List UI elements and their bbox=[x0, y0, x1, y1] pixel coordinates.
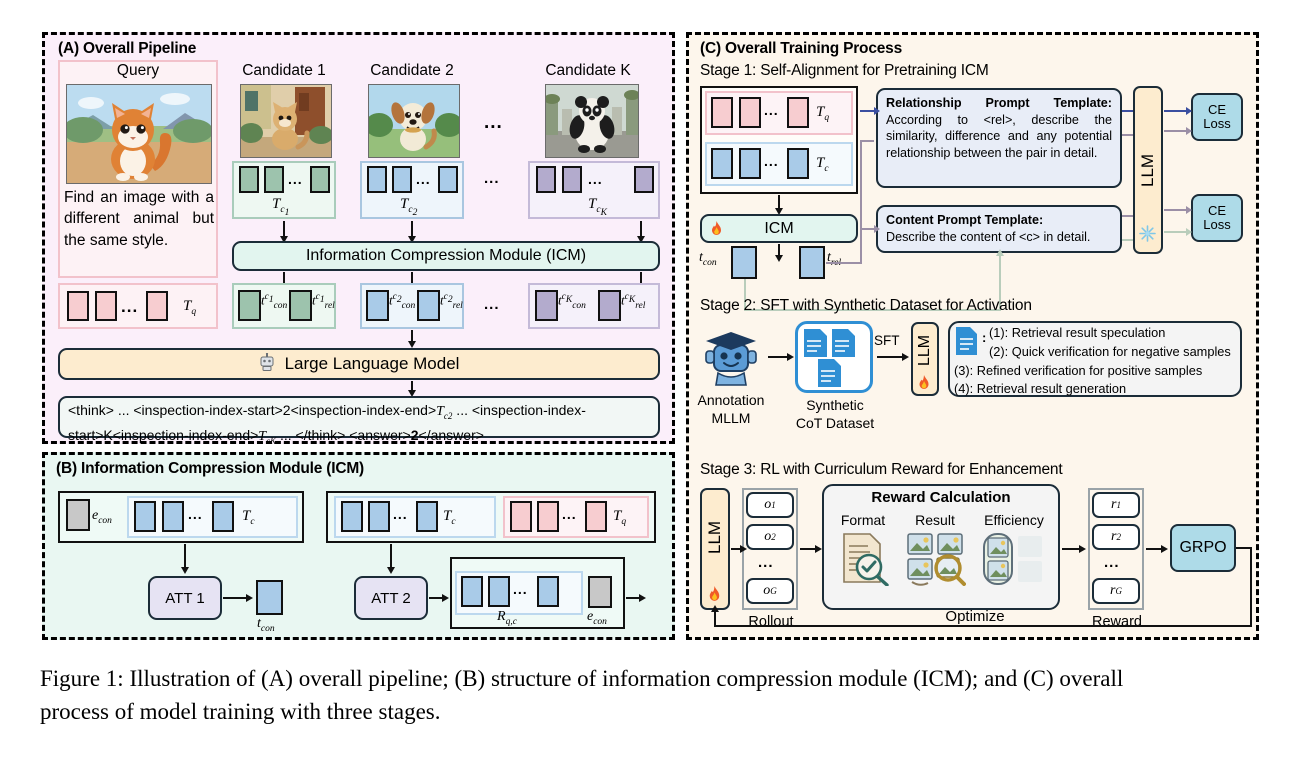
relationship-prompt-title: Relationship Prompt Template: bbox=[886, 96, 1112, 110]
arrow-head bbox=[815, 545, 822, 553]
content-prompt-box: Content Prompt Template: Describe the co… bbox=[876, 205, 1122, 253]
tq-token bbox=[787, 97, 809, 128]
annotation-mllm-icon bbox=[700, 325, 762, 389]
tq-token bbox=[510, 501, 532, 532]
query-token bbox=[67, 291, 89, 321]
query-token-label: Tq bbox=[183, 298, 196, 317]
arrow-head bbox=[874, 225, 880, 233]
candidate-2-trel bbox=[417, 290, 440, 321]
sft-label: SFT bbox=[874, 333, 900, 348]
documents-icon bbox=[802, 327, 868, 394]
ce-loss-box-2: CE Loss bbox=[1191, 194, 1243, 242]
arrow-head bbox=[442, 594, 449, 602]
stage1-tc-label: Tc bbox=[816, 155, 829, 174]
flame-icon bbox=[710, 221, 723, 243]
arrow bbox=[223, 597, 247, 599]
stage2-title: Stage 2: SFT with Synthetic Dataset for … bbox=[700, 297, 1032, 315]
connector bbox=[1122, 215, 1133, 217]
stage2-item-4: (4): Retrieval result generation bbox=[954, 381, 1126, 396]
connector bbox=[860, 140, 874, 142]
output-line2-c: ... </think> <answer> bbox=[276, 427, 411, 443]
llm-bar: Large Language Model bbox=[58, 348, 660, 380]
tq-token bbox=[537, 501, 559, 532]
e-con-label: econ bbox=[92, 508, 112, 526]
stage1-icm-box: ICM bbox=[700, 214, 858, 243]
arrow-head bbox=[1186, 107, 1192, 115]
arrow-head bbox=[787, 353, 794, 361]
image-filter-icon bbox=[982, 532, 1044, 591]
arrow bbox=[184, 544, 186, 568]
tq-token bbox=[739, 97, 761, 128]
ellipsis: ... bbox=[393, 506, 408, 522]
ellipsis: ... bbox=[416, 171, 431, 187]
candidate-2-token bbox=[367, 166, 387, 193]
arrow bbox=[877, 356, 903, 358]
reward-calculation-title: Reward Calculation bbox=[822, 489, 1060, 506]
connector bbox=[714, 612, 716, 626]
output-line2-d: </answer> bbox=[419, 427, 484, 443]
stage3-llm-label: LLM bbox=[700, 482, 730, 592]
annotation-label-1: Annotation bbox=[688, 392, 774, 408]
stage2-item-2: (2): Quick verification for negative sam… bbox=[989, 344, 1231, 359]
panel-c-title: (C) Overall Training Process bbox=[700, 40, 902, 58]
t-con-output-label: tcon bbox=[257, 616, 275, 634]
arrow bbox=[778, 195, 780, 209]
arrow-head bbox=[874, 107, 880, 115]
candidate-2-title: Candidate 2 bbox=[360, 62, 464, 80]
ellipsis: ... bbox=[764, 102, 779, 118]
att2-box: ATT 2 bbox=[354, 576, 428, 620]
stage1-tcon-label: tcon bbox=[699, 250, 717, 268]
llm-bar-label: Large Language Model bbox=[285, 354, 460, 374]
ce-loss-2-line2: Loss bbox=[1203, 218, 1230, 232]
connector bbox=[1250, 547, 1252, 627]
rqc-token bbox=[488, 576, 510, 607]
candidate-k-tcon bbox=[535, 290, 558, 321]
ce-loss-box-1: CE Loss bbox=[1191, 93, 1243, 141]
candidate-2-tokens-label: Tc2 bbox=[400, 196, 417, 218]
ellipsis: ... bbox=[121, 297, 138, 317]
candidate-k-trel-label: tcKrel bbox=[621, 292, 645, 311]
dataset-label-2: CoT Dataset bbox=[790, 415, 880, 431]
query-title: Query bbox=[58, 62, 218, 80]
arrow bbox=[429, 597, 443, 599]
content-prompt-title: Content Prompt Template: bbox=[886, 213, 1043, 227]
dataset-label-1: Synthetic bbox=[790, 397, 880, 413]
reward-item-r2: r2 bbox=[1092, 524, 1140, 550]
stage2-item-3: (3): Refined verification for positive s… bbox=[954, 363, 1202, 378]
candidate-1-tcon bbox=[238, 290, 261, 321]
ellipsis: ... bbox=[764, 153, 779, 169]
candidate-k-title: Candidate K bbox=[528, 62, 648, 80]
arrow-head bbox=[181, 567, 189, 574]
ellipsis: ... bbox=[588, 171, 603, 187]
rollout-label: Rollout bbox=[736, 614, 806, 630]
output-line1-a: <think> ... <inspection-index-start>2<in… bbox=[68, 402, 436, 418]
output-answer: 2 bbox=[411, 427, 419, 443]
reward-ellipsis: ... bbox=[1104, 554, 1120, 571]
ellipsis: ... bbox=[188, 506, 203, 522]
tc-token bbox=[711, 148, 733, 179]
grpo-box: GRPO bbox=[1170, 524, 1236, 572]
relationship-prompt-box: Relationship Prompt Template: According … bbox=[876, 88, 1122, 188]
rollout-ellipsis: ... bbox=[758, 554, 774, 571]
output-line2-b: T bbox=[258, 429, 266, 444]
arrow-head bbox=[246, 594, 253, 602]
snowflake-icon bbox=[1139, 225, 1156, 247]
arrow bbox=[800, 548, 816, 550]
tq-token bbox=[585, 501, 607, 532]
output-line1-c: ... <inspection- bbox=[452, 402, 547, 418]
annotation-label-2: MLLM bbox=[688, 410, 774, 426]
rollout-item-o1: o1 bbox=[746, 492, 794, 518]
connector bbox=[826, 262, 862, 264]
tc-token bbox=[739, 148, 761, 179]
candidate-1-tokens-label: Tc1 bbox=[272, 196, 289, 218]
stage1-trel-token bbox=[799, 246, 825, 279]
stage3-title: Stage 3: RL with Curriculum Reward for E… bbox=[700, 461, 1062, 479]
candidate-1-title: Candidate 1 bbox=[232, 62, 336, 80]
stage1-icm-label: ICM bbox=[764, 220, 793, 238]
tc-token bbox=[212, 501, 234, 532]
reward-term-format-label: Format bbox=[828, 512, 898, 528]
arrow bbox=[640, 221, 642, 237]
candidate-ellipsis: ... bbox=[484, 112, 503, 134]
ellipsis: ... bbox=[288, 171, 303, 187]
panel-b-title: (B) Information Compression Module (ICM) bbox=[56, 460, 364, 478]
candidate-2-tcon-label: tc2con bbox=[389, 292, 415, 311]
connector bbox=[714, 625, 1252, 627]
arrow-head bbox=[996, 249, 1004, 256]
connector bbox=[1122, 134, 1133, 136]
query-text: Find an image with a different animal bu… bbox=[64, 187, 214, 251]
document-check-icon bbox=[838, 532, 890, 591]
rollout-item-o2: o2 bbox=[746, 524, 794, 550]
reward-item-rG: rG bbox=[1092, 578, 1140, 604]
stage1-tq-label: Tq bbox=[816, 104, 829, 123]
e-con-token bbox=[66, 499, 90, 531]
stage2-llm-label: LLM bbox=[911, 318, 939, 382]
stage2-item-1: (1): Retrieval result speculation bbox=[989, 325, 1165, 340]
reward-item-r1: r1 bbox=[1092, 492, 1140, 518]
panel-a-title: (A) Overall Pipeline bbox=[58, 40, 196, 58]
connector bbox=[860, 140, 862, 262]
relationship-prompt-body: According to <rel>, describe the similar… bbox=[886, 113, 1112, 160]
tc-token bbox=[162, 501, 184, 532]
candidate-1-token bbox=[310, 166, 330, 193]
figure-caption: Figure 1: Illustration of (A) overall pi… bbox=[40, 663, 1160, 728]
arrow-head bbox=[1186, 127, 1192, 135]
ellipsis: ... bbox=[562, 506, 577, 522]
arrow-head bbox=[902, 353, 909, 361]
rqc-token bbox=[461, 576, 483, 607]
tc-label-right: Tc bbox=[443, 508, 456, 527]
candidate-1-tcon-label: tc1con bbox=[261, 292, 287, 311]
icm-bar: Information Compression Module (ICM) bbox=[232, 241, 660, 271]
arrow bbox=[1146, 548, 1162, 550]
reward-term-result-label: Result bbox=[900, 512, 970, 528]
tq-token bbox=[711, 97, 733, 128]
candidate-1-trel bbox=[289, 290, 312, 321]
candidate-2-token bbox=[392, 166, 412, 193]
reward-term-efficiency-label: Efficiency bbox=[972, 512, 1056, 528]
candidate-token-ellipsis: ... bbox=[484, 170, 500, 187]
arrow bbox=[283, 221, 285, 237]
candidate-1-token bbox=[239, 166, 259, 193]
candidate-2-trel-label: tc2rel bbox=[440, 292, 463, 311]
t-con-output-token bbox=[256, 580, 283, 615]
candidate-k-image bbox=[545, 84, 639, 158]
arrow-head bbox=[639, 594, 646, 602]
arrow bbox=[390, 544, 392, 568]
candidate-k-token bbox=[634, 166, 654, 193]
arrow-head bbox=[1186, 206, 1192, 214]
candidate-1-token bbox=[264, 166, 284, 193]
candidate-2-token bbox=[438, 166, 458, 193]
connector bbox=[1122, 110, 1133, 112]
tc-token bbox=[416, 501, 438, 532]
arrow bbox=[1062, 548, 1080, 550]
arrow-head bbox=[740, 545, 747, 553]
stage1-tcon-token bbox=[731, 246, 757, 279]
ce-loss-1-line2: Loss bbox=[1203, 117, 1230, 131]
query-token bbox=[146, 291, 168, 321]
stage1-title: Stage 1: Self-Alignment for Pretraining … bbox=[700, 62, 989, 80]
arrow-head bbox=[775, 255, 783, 262]
compressed-ellipsis: ... bbox=[484, 296, 500, 313]
tc-token bbox=[341, 501, 363, 532]
output-line1-b: T bbox=[436, 404, 444, 419]
arrow bbox=[411, 221, 413, 237]
arrow-head bbox=[1186, 228, 1192, 236]
query-token bbox=[95, 291, 117, 321]
colon-marker: : bbox=[982, 330, 986, 345]
candidate-1-trel-label: tc1rel bbox=[312, 292, 335, 311]
candidate-2-tcon bbox=[366, 290, 389, 321]
llm-output-text: <think> ... <inspection-index-start>2<in… bbox=[68, 399, 652, 448]
candidate-2-image bbox=[368, 84, 460, 158]
image-search-icon bbox=[906, 532, 966, 591]
document-icon bbox=[955, 326, 981, 361]
arrow bbox=[768, 356, 788, 358]
ce-loss-1-line1: CE bbox=[1208, 103, 1226, 117]
ellipsis: ... bbox=[513, 581, 528, 597]
robot-icon bbox=[259, 353, 275, 376]
content-prompt-body: Describe the content of <c> in detail. bbox=[886, 230, 1090, 244]
rollout-item-oG: oG bbox=[746, 578, 794, 604]
ce-loss-2-line1: CE bbox=[1208, 204, 1226, 218]
candidate-k-token bbox=[562, 166, 582, 193]
arrow-head bbox=[1079, 545, 1086, 553]
arrow-head bbox=[1161, 545, 1168, 553]
candidate-k-trel bbox=[598, 290, 621, 321]
candidate-k-tokens-label: TcK bbox=[588, 196, 607, 218]
stage1-trel-label: trel bbox=[827, 250, 841, 268]
att1-left-box: ATT 1 bbox=[148, 576, 222, 620]
arrow-head bbox=[711, 605, 719, 612]
flame-icon bbox=[917, 375, 931, 397]
tc-token bbox=[787, 148, 809, 179]
tc-label: Tc bbox=[242, 508, 255, 527]
output-line2-bsub: cK bbox=[266, 435, 276, 445]
candidate-k-token bbox=[536, 166, 556, 193]
query-image bbox=[66, 84, 212, 184]
candidate-k-tcon-label: tcKcon bbox=[558, 292, 586, 311]
reward-label: Reward bbox=[1082, 614, 1152, 630]
rqc-token bbox=[537, 576, 559, 607]
connector bbox=[1122, 239, 1133, 241]
optimize-label: Optimize bbox=[900, 608, 1050, 625]
arrow-head bbox=[387, 567, 395, 574]
candidate-1-image bbox=[240, 84, 332, 158]
tq-label-right: Tq bbox=[613, 508, 626, 527]
tc-token bbox=[134, 501, 156, 532]
tc-token bbox=[368, 501, 390, 532]
arrow-head bbox=[408, 341, 416, 348]
rqc-label: Rq,c bbox=[497, 609, 517, 627]
